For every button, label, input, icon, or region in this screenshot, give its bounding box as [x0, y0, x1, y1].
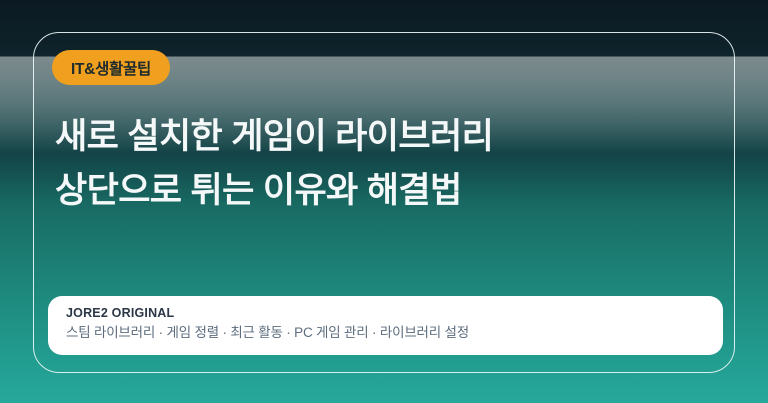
- headline-line-2: 상단으로 튀는 이유와 해결법: [55, 164, 695, 218]
- footer-brand-label: JORE2 ORIGINAL: [66, 305, 705, 322]
- headline-line-1: 새로 설치한 게임이 라이브러리: [55, 110, 695, 164]
- footer-tags-label: 스팀 라이브러리 · 게임 정렬 · 최근 활동 · PC 게임 관리 · 라이…: [66, 322, 705, 344]
- category-badge: IT&생활꿀팁: [52, 50, 170, 85]
- category-badge-label: IT&생활꿀팁: [71, 57, 151, 79]
- headline-block: 새로 설치한 게임이 라이브러리 상단으로 튀는 이유와 해결법: [55, 110, 695, 218]
- footer-info-card: JORE2 ORIGINAL 스팀 라이브러리 · 게임 정렬 · 최근 활동 …: [48, 296, 723, 355]
- thumbnail-canvas: IT&생활꿀팁 새로 설치한 게임이 라이브러리 상단으로 튀는 이유와 해결법…: [0, 0, 768, 403]
